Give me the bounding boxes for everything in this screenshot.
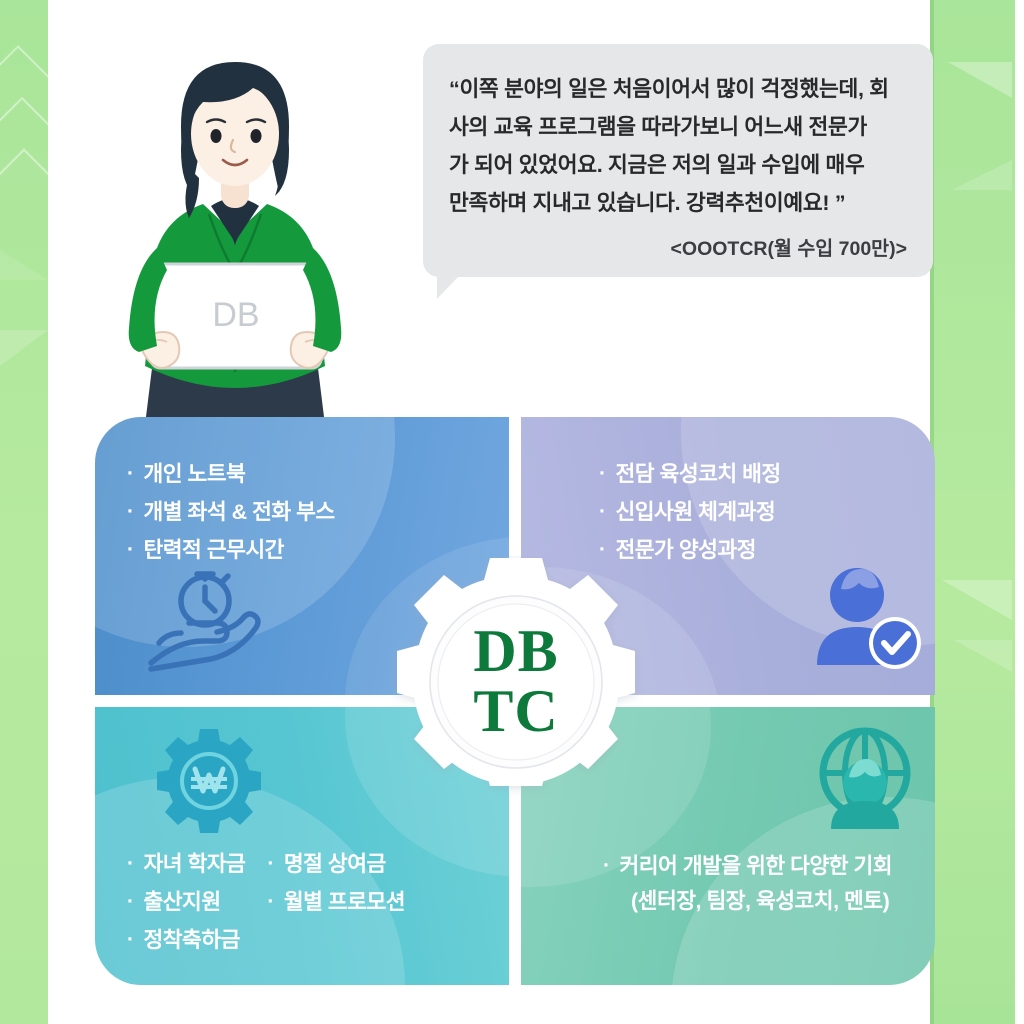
list-item: ·월별 프로모션 <box>267 883 405 921</box>
work-environment-list: ·개인 노트북 ·개별 좌석 & 전화 부스 ·탄력적 근무시간 <box>127 455 335 569</box>
verified-person-icon <box>811 565 923 678</box>
list-item-label: 정착축하금 <box>144 921 240 959</box>
list-item: ·전담 육성코치 배정 <box>599 455 781 493</box>
list-item: ·출산지원 <box>127 883 245 921</box>
testimonial-bubble: “이쪽 분야의 일은 처음이어서 많이 걱정했는데, 회 사의 교육 프로그램을… <box>423 44 933 277</box>
testimonial-text: “이쪽 분야의 일은 처음이어서 많이 걱정했는데, 회 사의 교육 프로그램을… <box>449 70 907 222</box>
bullet-icon: · <box>127 845 134 883</box>
person-globe-icon <box>809 725 921 840</box>
list-item: ·명절 상여금 <box>267 845 405 883</box>
training-program-list: ·전담 육성코치 배정 ·신입사원 체계과정 ·전문가 양성과정 <box>599 455 781 569</box>
dbtc-logo-text: DB TC <box>390 556 642 808</box>
benefits-column-1: ·자녀 학자금 ·출산지원 ·정착축하금 <box>127 845 245 959</box>
list-item-label: 월별 프로모션 <box>284 883 405 921</box>
woman-holding-laptop-illustration: DB <box>105 30 365 425</box>
list-item-label: 명절 상여금 <box>284 845 386 883</box>
list-item-label: 신입사원 체계과정 <box>616 493 776 531</box>
list-item-label: 전담 육성코치 배정 <box>616 455 781 493</box>
laptop-db-label: DB <box>212 296 259 334</box>
bubble-tail <box>437 255 479 299</box>
list-item-label: 출산지원 <box>144 883 221 921</box>
bullet-icon: · <box>127 531 134 569</box>
logo-line-db: DB <box>473 622 558 680</box>
testimonial-line: 만족하며 지내고 있습니다. 강력추천이예요! ” <box>449 184 907 222</box>
left-green-band <box>0 0 48 1024</box>
list-item: ·탄력적 근무시간 <box>127 531 335 569</box>
list-item: ·정착축하금 <box>127 921 245 959</box>
bullet-icon: · <box>127 493 134 531</box>
testimonial-line: 사의 교육 프로그램을 따라가보니 어느새 전문가 <box>449 108 907 146</box>
benefits-list: ·자녀 학자금 ·출산지원 ·정착축하금 ·명절 상여금 ·월별 프로모션 <box>127 845 405 959</box>
testimonial-line: 가 되어 있었어요. 지금은 저의 일과 수입에 매우 <box>449 146 907 184</box>
bullet-icon: · <box>267 883 274 921</box>
hand-stopwatch-icon <box>143 567 263 682</box>
bullet-icon: · <box>599 493 606 531</box>
dbtc-logo-badge: DB TC <box>390 556 642 808</box>
career-path-subitem: (센터장, 팀장, 육성코치, 멘토) <box>603 885 892 918</box>
career-path-list: ·커리어 개발을 위한 다양한 기회 (센터장, 팀장, 육성코치, 멘토) <box>603 847 892 918</box>
testimonial-line: “이쪽 분야의 일은 처음이어서 많이 걱정했는데, 회 <box>449 70 907 108</box>
list-item-label: 커리어 개발을 위한 다양한 기회 <box>620 847 893 885</box>
bullet-icon: · <box>267 845 274 883</box>
list-item: ·신입사원 체계과정 <box>599 493 781 531</box>
list-item-label: 개인 노트북 <box>144 455 246 493</box>
right-green-band <box>930 0 1024 1024</box>
bullet-icon: · <box>127 883 134 921</box>
bullet-icon: · <box>127 921 134 959</box>
list-item-label: 개별 좌석 & 전화 부스 <box>144 493 335 531</box>
bullet-icon: · <box>599 455 606 493</box>
benefits-column-2: ·명절 상여금 ·월별 프로모션 <box>267 845 405 959</box>
list-item: ·개인 노트북 <box>127 455 335 493</box>
poster-root: DB “이쪽 분야의 일은 처음이어서 많이 걱정했는데, 회 사의 교육 프로… <box>0 0 1024 1024</box>
list-item: ·자녀 학자금 <box>127 845 245 883</box>
list-item: ·개별 좌석 & 전화 부스 <box>127 493 335 531</box>
bullet-icon: · <box>603 847 610 885</box>
bullet-icon: · <box>127 455 134 493</box>
list-item-label: 자녀 학자금 <box>144 845 246 883</box>
testimonial-attribution: <OOOTCR(월 수입 700만)> <box>449 232 907 261</box>
list-item: ·커리어 개발을 위한 다양한 기회 <box>603 847 892 885</box>
gear-won-icon <box>153 725 265 842</box>
list-item-label: 탄력적 근무시간 <box>144 531 284 569</box>
logo-line-tc: TC <box>473 680 558 742</box>
